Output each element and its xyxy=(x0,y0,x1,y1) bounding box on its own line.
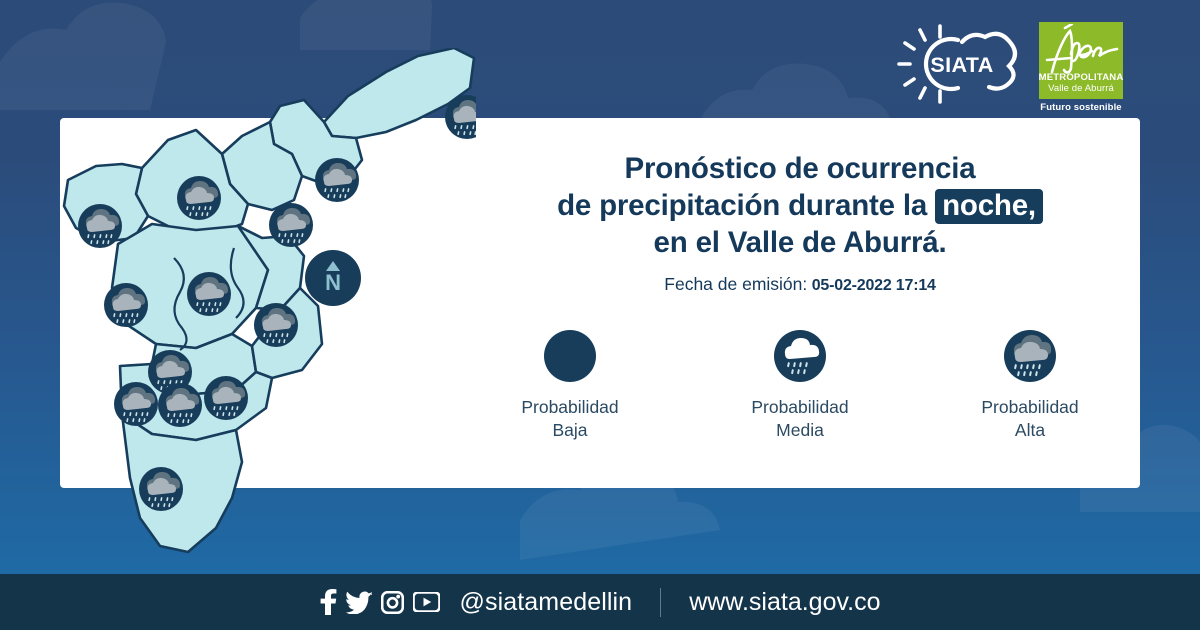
ama-green-box: METROPOLITANA Valle de Aburrá xyxy=(1039,22,1123,99)
ama-tagline: Futuro sostenible xyxy=(1039,102,1123,113)
valle-de-aburra-map: N xyxy=(56,48,476,578)
emission-label: Fecha de emisión: xyxy=(664,274,807,294)
footer-bar: @siatamedellin www.siata.gov.co xyxy=(0,574,1200,630)
headline-line-1: Pronóstico de ocurrencia xyxy=(470,150,1130,187)
poster-canvas: SIATA METROPOLITANA Valle de Aburrá Futu… xyxy=(0,0,1200,630)
map-marker[interactable] xyxy=(269,203,313,247)
instagram-icon[interactable] xyxy=(381,591,404,614)
emission-value: 05-02-2022 17:14 xyxy=(812,277,936,294)
headline-line-2-text: de precipitación durante la xyxy=(557,189,935,222)
legend-label-media: Probabilidad Media xyxy=(751,396,848,442)
legend-item-alta: Probabilidad Alta xyxy=(955,330,1105,442)
moon-icon xyxy=(544,330,596,382)
map-marker[interactable] xyxy=(114,382,158,426)
facebook-icon[interactable] xyxy=(320,589,337,615)
siata-sun-cloud-logo: SIATA xyxy=(896,24,1024,104)
cloud-rain-moon-icon xyxy=(774,330,826,382)
footer-divider xyxy=(660,588,661,617)
probability-legend: Probabilidad Baja Proba xyxy=(470,330,1130,442)
twitter-icon[interactable] xyxy=(346,590,372,614)
headline-line-3: en el Valle de Aburrá. xyxy=(470,224,1130,261)
emission-date-row: Fecha de emisión: 05-02-2022 17:14 xyxy=(470,274,1130,295)
map-marker[interactable] xyxy=(177,176,221,220)
page-title: Pronóstico de ocurrencia de precipitació… xyxy=(470,150,1130,261)
social-handle[interactable]: @siatamedellin xyxy=(460,588,633,617)
siata-wordmark: SIATA xyxy=(930,53,993,77)
area-metropolitana-logo: METROPOLITANA Valle de Aburrá Futuro sos… xyxy=(1039,22,1123,115)
legend-label-baja: Probabilidad Baja xyxy=(521,396,618,442)
legend-item-media: Probabilidad Media xyxy=(725,330,875,442)
cloud-heavy-rain-icon xyxy=(1004,330,1056,382)
map-marker[interactable] xyxy=(158,383,202,427)
map-marker[interactable] xyxy=(254,303,298,347)
website-url[interactable]: www.siata.gov.co xyxy=(689,588,880,617)
headline-highlight-noche: noche, xyxy=(935,189,1043,224)
map-marker[interactable] xyxy=(104,283,148,327)
ama-area-script-icon xyxy=(1039,24,1123,78)
north-arrow-icon: N xyxy=(305,250,361,306)
legend-item-baja: Probabilidad Baja xyxy=(495,330,645,442)
map-marker[interactable] xyxy=(187,272,231,316)
forecast-text-panel: Pronóstico de ocurrencia de precipitació… xyxy=(470,150,1130,295)
map-marker[interactable] xyxy=(315,158,359,202)
social-icons xyxy=(320,589,440,615)
map-marker[interactable] xyxy=(204,376,248,420)
ama-line2: Valle de Aburrá xyxy=(1048,83,1114,94)
map-marker[interactable] xyxy=(139,467,183,511)
map-marker[interactable] xyxy=(78,204,122,248)
legend-label-alta: Probabilidad Alta xyxy=(981,396,1078,442)
headline-line-2: de precipitación durante la noche, xyxy=(470,187,1130,224)
compass-label: N xyxy=(325,270,341,295)
youtube-icon[interactable] xyxy=(413,592,440,612)
